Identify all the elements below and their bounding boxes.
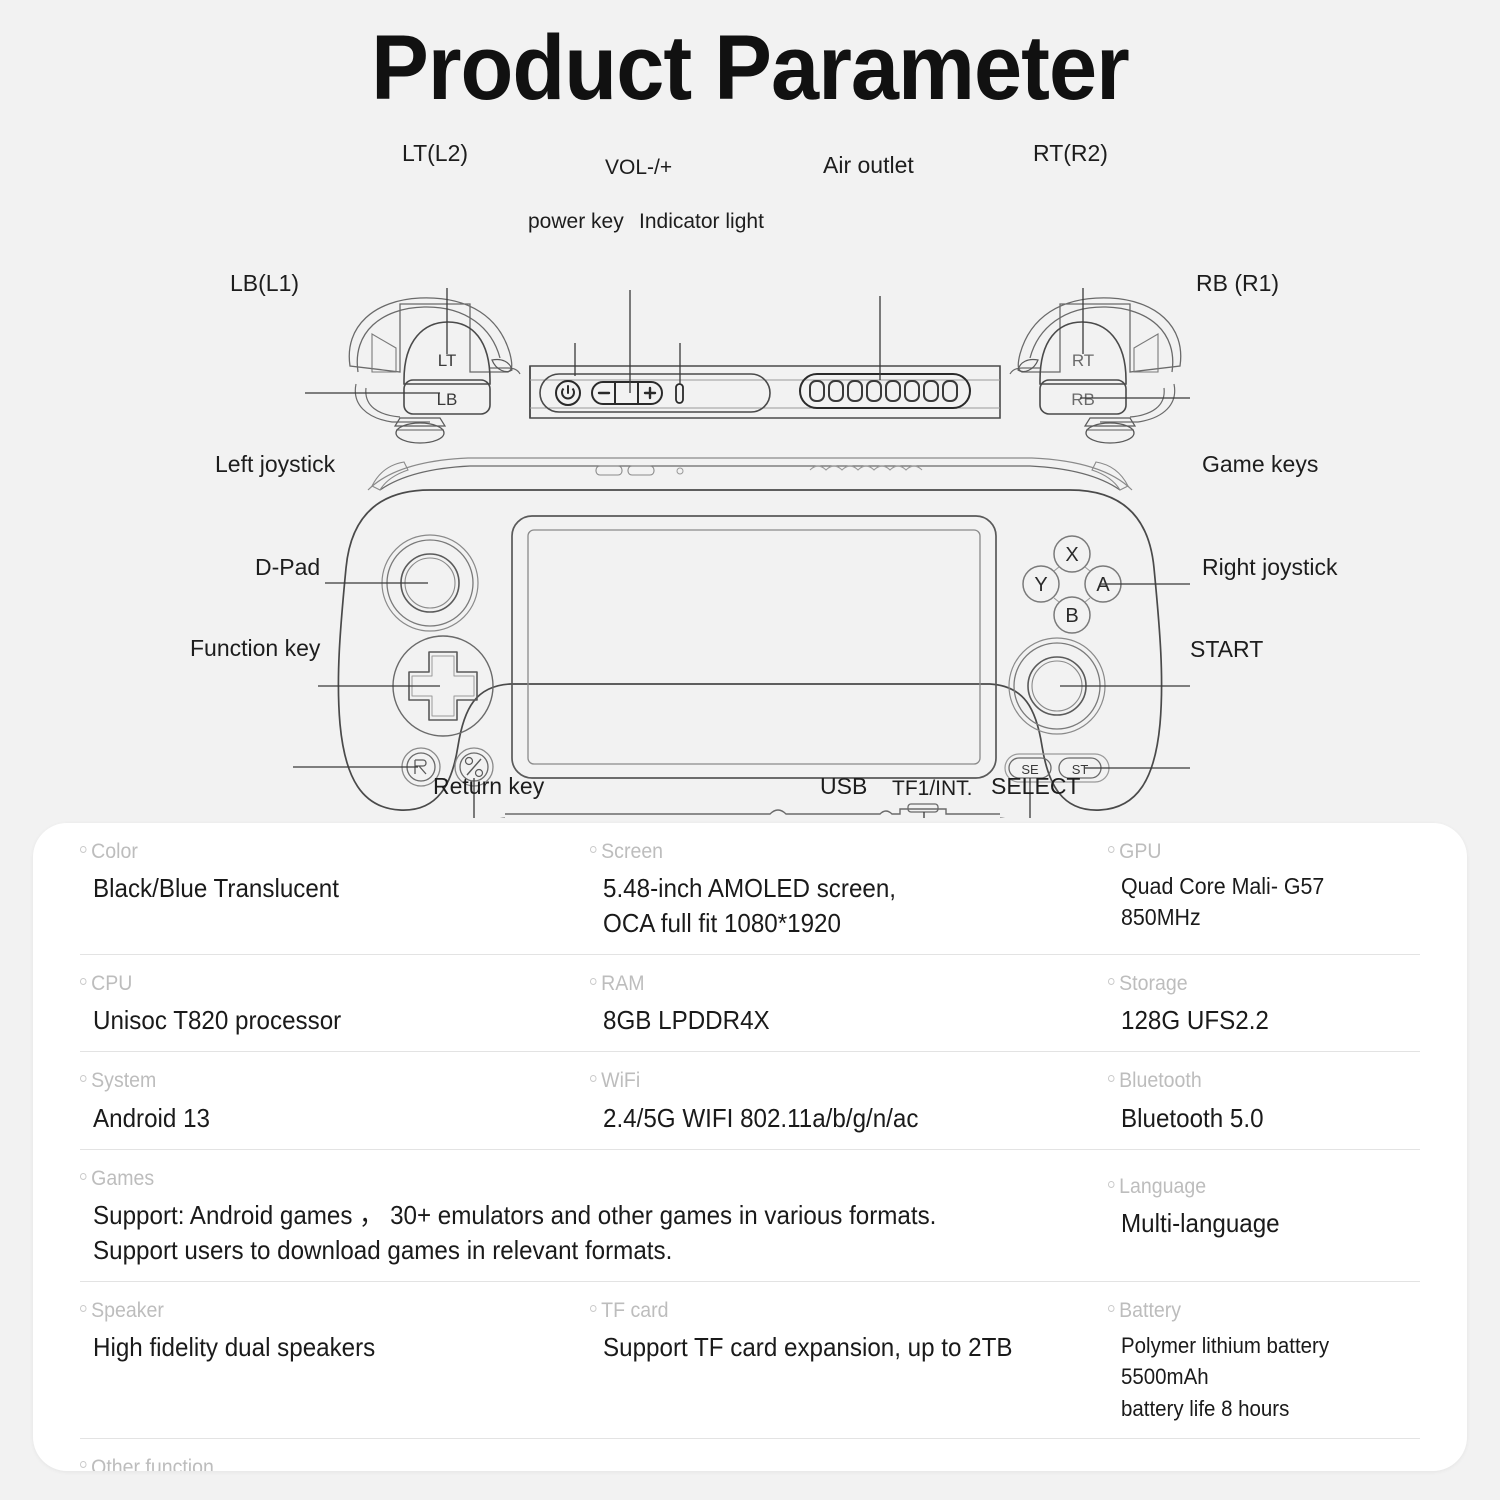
spec-value: Unisoc T820 processor xyxy=(80,1003,554,1037)
spec-label: Language xyxy=(1108,1174,1398,1200)
button-b-glyph: B xyxy=(1065,605,1078,627)
spec-label: Storage xyxy=(1108,971,1398,997)
spec-value: 128G UFS2.2 xyxy=(1108,1003,1398,1037)
spec-label: Bluetooth xyxy=(1108,1068,1398,1094)
spec-value: Black/Blue Translucent xyxy=(80,871,554,905)
spec-label-text: Language xyxy=(1119,1174,1206,1200)
spec-row: Color Black/Blue Translucent Screen 5.48… xyxy=(80,823,1420,955)
spec-cell-other-function: Other function Built-in Hall joystick, s… xyxy=(80,1455,1420,1471)
label-dpad: D-Pad xyxy=(255,554,320,581)
screen-bezel xyxy=(512,516,996,778)
spec-label-text: Bluetooth xyxy=(1119,1068,1202,1094)
label-usb: USB xyxy=(820,773,867,800)
bullet-icon xyxy=(590,978,597,985)
spec-value: Bluetooth 5.0 xyxy=(1108,1101,1398,1135)
spec-row: System Android 13 WiFi 2.4/5G WIFI 802.1… xyxy=(80,1052,1420,1150)
label-air-outlet: Air outlet xyxy=(823,152,914,179)
spec-cell-storage: Storage 128G UFS2.2 xyxy=(1108,971,1420,1038)
spec-label: Color xyxy=(80,839,554,865)
label-rb: RB (R1) xyxy=(1196,270,1279,297)
spec-value: Support TF card expansion, up to 2TB xyxy=(590,1330,1072,1364)
spec-label-text: Color xyxy=(91,839,138,865)
bullet-icon xyxy=(80,846,87,853)
spec-label-text: Storage xyxy=(1119,971,1187,997)
label-lt: LT(L2) xyxy=(402,140,468,167)
bullet-icon xyxy=(590,846,597,853)
spec-cell-bluetooth: Bluetooth Bluetooth 5.0 xyxy=(1108,1068,1420,1135)
spec-value: High fidelity dual speakers xyxy=(80,1330,554,1364)
spec-cell-tf-card: TF card Support TF card expansion, up to… xyxy=(590,1298,1108,1424)
product-diagram: LT LB RT RB xyxy=(0,118,1500,818)
bullet-icon xyxy=(80,1305,87,1312)
label-right-joystick: Right joystick xyxy=(1202,554,1337,581)
label-start: START xyxy=(1190,636,1263,663)
spec-label: Battery xyxy=(1108,1298,1398,1324)
button-y-glyph: Y xyxy=(1034,574,1047,596)
spec-value: Polymer lithium battery 5500mAh battery … xyxy=(1108,1330,1398,1424)
spec-cell-battery: Battery Polymer lithium battery 5500mAh … xyxy=(1108,1298,1420,1424)
spec-label: CPU xyxy=(80,971,554,997)
screen-display xyxy=(528,530,980,764)
label-indicator-light: Indicator light xyxy=(639,210,764,234)
spec-cell-games: Games Support: Android games ， 30+ emula… xyxy=(80,1166,1108,1267)
spec-label: Screen xyxy=(590,839,1072,865)
spec-label-text: Games xyxy=(91,1166,154,1192)
spec-label: WiFi xyxy=(590,1068,1072,1094)
rb-glyph: RB xyxy=(1071,390,1095,409)
button-x-glyph: X xyxy=(1065,544,1078,566)
tf-card-slot xyxy=(908,804,938,812)
label-game-keys: Game keys xyxy=(1202,451,1318,478)
spec-label: Games xyxy=(80,1166,1036,1192)
spec-cell-color: Color Black/Blue Translucent xyxy=(80,839,590,940)
spec-cell-screen: Screen 5.48-inch AMOLED screen, OCA full… xyxy=(590,839,1108,940)
spec-cell-language: Language Multi-language xyxy=(1108,1166,1420,1267)
spec-row: Games Support: Android games ， 30+ emula… xyxy=(80,1150,1420,1282)
label-volume: VOL-/+ xyxy=(605,156,672,180)
spec-row-other-function: Other function Built-in Hall joystick, s… xyxy=(80,1439,1420,1471)
spec-value: 2.4/5G WIFI 802.11a/b/g/n/ac xyxy=(590,1101,1072,1135)
spec-cell-wifi: WiFi 2.4/5G WIFI 802.11a/b/g/n/ac xyxy=(590,1068,1108,1135)
left-shoulder-top: LT LB xyxy=(349,298,520,443)
spec-label: TF card xyxy=(590,1298,1072,1324)
bullet-icon xyxy=(1108,1181,1115,1188)
spec-row: Speaker High fidelity dual speakers TF c… xyxy=(80,1282,1420,1439)
spec-label: RAM xyxy=(590,971,1072,997)
label-select: SELECT xyxy=(991,773,1080,800)
spec-label-text: GPU xyxy=(1119,839,1161,865)
bullet-icon xyxy=(80,1075,87,1082)
bullet-icon xyxy=(1108,978,1115,985)
spec-cell-speaker: Speaker High fidelity dual speakers xyxy=(80,1298,590,1424)
spec-label: Other function xyxy=(80,1455,1326,1471)
bullet-icon xyxy=(1108,1075,1115,1082)
spec-label: GPU xyxy=(1108,839,1398,865)
bullet-icon xyxy=(1108,846,1115,853)
bullet-icon xyxy=(590,1075,597,1082)
spec-cell-gpu: GPU Quad Core Mali- G57 850MHz xyxy=(1108,839,1420,940)
bullet-icon xyxy=(590,1305,597,1312)
spec-label-text: Battery xyxy=(1119,1298,1181,1324)
spec-label-text: WiFi xyxy=(601,1068,640,1094)
spec-label-text: Speaker xyxy=(91,1298,164,1324)
spec-cell-cpu: CPU Unisoc T820 processor xyxy=(80,971,590,1038)
spec-row: CPU Unisoc T820 processor RAM 8GB LPDDR4… xyxy=(80,955,1420,1053)
spec-label: System xyxy=(80,1068,554,1094)
spec-label-text: CPU xyxy=(91,971,132,997)
spec-label-text: Other function xyxy=(91,1455,214,1471)
button-a-glyph: A xyxy=(1096,574,1110,596)
label-power-key: power key xyxy=(528,210,624,234)
front-view-group: X Y A B SE ST xyxy=(293,458,1190,818)
label-function-key: Function key xyxy=(190,635,320,662)
spec-cell-ram: RAM 8GB LPDDR4X xyxy=(590,971,1108,1038)
bullet-icon xyxy=(80,1461,87,1468)
spec-label-text: RAM xyxy=(601,971,644,997)
page-title: Product Parameter xyxy=(45,0,1455,114)
right-shoulder-top: RT RB xyxy=(1010,298,1181,443)
spec-label: Speaker xyxy=(80,1298,554,1324)
spec-value: Quad Core Mali- G57 850MHz xyxy=(1108,871,1398,932)
bullet-icon xyxy=(80,1173,87,1180)
spec-card: Color Black/Blue Translucent Screen 5.48… xyxy=(33,823,1467,1471)
bullet-icon xyxy=(1108,1305,1115,1312)
label-return-key: Return key xyxy=(433,773,544,800)
air-outlet-vents xyxy=(810,381,957,401)
spec-cell-system: System Android 13 xyxy=(80,1068,590,1135)
top-view-group: LT LB RT RB xyxy=(305,288,1190,443)
label-left-joystick: Left joystick xyxy=(215,451,335,478)
spec-label-text: TF card xyxy=(601,1298,668,1324)
spec-value: 5.48-inch AMOLED screen, OCA full fit 10… xyxy=(590,871,1072,940)
spec-label-text: System xyxy=(91,1068,156,1094)
label-rt: RT(R2) xyxy=(1033,140,1108,167)
bullet-icon xyxy=(80,978,87,985)
spec-value: Support: Android games ， 30+ emulators a… xyxy=(80,1198,1036,1267)
spec-value: 8GB LPDDR4X xyxy=(590,1003,1072,1037)
label-tf-card: TF1/INT. xyxy=(892,777,973,801)
spec-label-text: Screen xyxy=(601,839,663,865)
spec-value: Android 13 xyxy=(80,1101,554,1135)
spec-value: Multi-language xyxy=(1108,1206,1398,1240)
label-lb: LB(L1) xyxy=(230,270,299,297)
